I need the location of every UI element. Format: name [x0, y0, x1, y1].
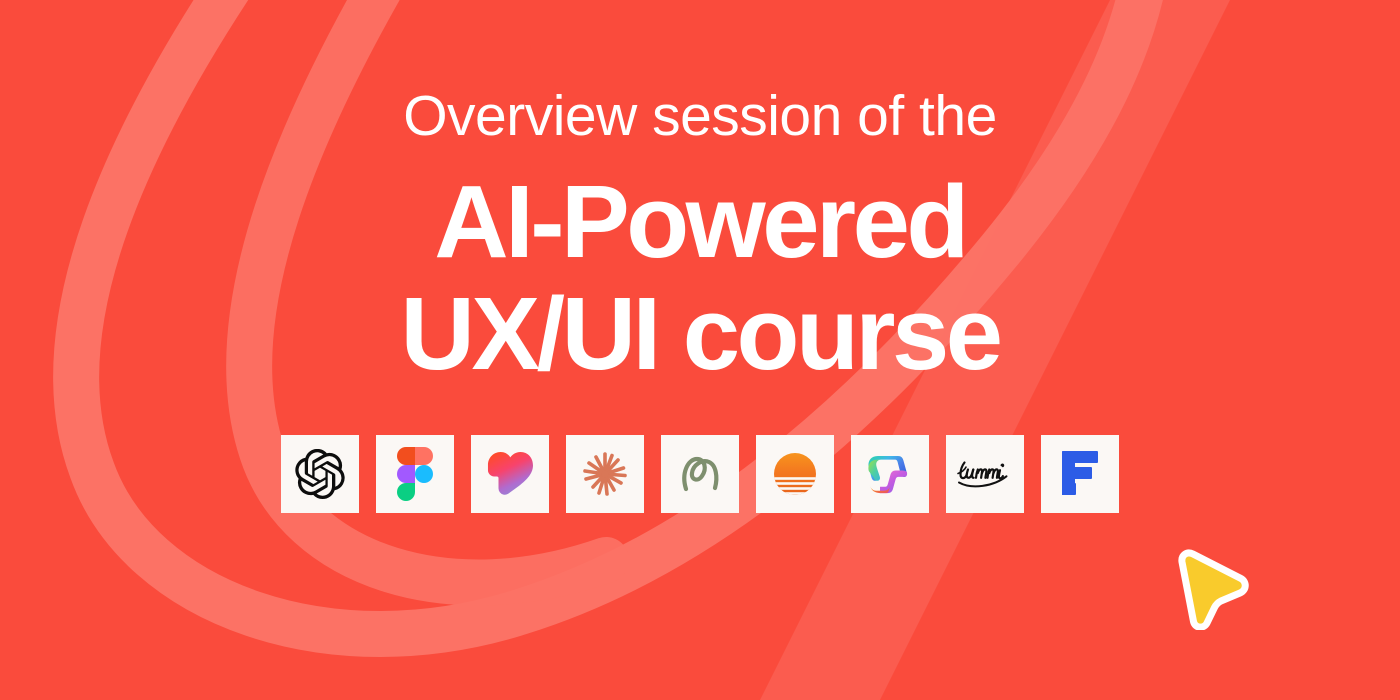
cursor-arrow-icon[interactable]: [1168, 544, 1254, 630]
lovable-heart-logo-icon: [485, 451, 535, 497]
lummi-wordmark-logo-icon: [954, 457, 1016, 491]
logo-card-figma[interactable]: [376, 435, 454, 513]
logo-card-krea[interactable]: [756, 435, 834, 513]
krea-sunset-logo-icon: [770, 449, 820, 499]
figma-logo-icon: [397, 447, 433, 501]
logo-card-openai[interactable]: [281, 435, 359, 513]
hero-headline-line-1: AI-Powered: [434, 167, 966, 277]
copilot-ribbon-logo-icon: [864, 449, 916, 499]
logo-card-lovable[interactable]: [471, 435, 549, 513]
tool-logo-strip: [281, 435, 1119, 513]
hero-headline-line-2: UX/UI course: [400, 279, 999, 389]
framer-f-logo-icon: [1058, 449, 1102, 499]
claude-starburst-logo-icon: [581, 450, 629, 498]
logo-card-lummi[interactable]: [946, 435, 1024, 513]
logo-card-arc[interactable]: [661, 435, 739, 513]
arc-loop-logo-icon: [676, 453, 724, 495]
logo-card-copilot[interactable]: [851, 435, 929, 513]
logo-card-claude[interactable]: [566, 435, 644, 513]
hero-kicker: Overview session of the: [403, 88, 997, 145]
slide-canvas: Overview session of the AI-Powered UX/UI…: [0, 0, 1400, 700]
openai-logo-icon: [295, 449, 345, 499]
logo-card-framer[interactable]: [1041, 435, 1119, 513]
